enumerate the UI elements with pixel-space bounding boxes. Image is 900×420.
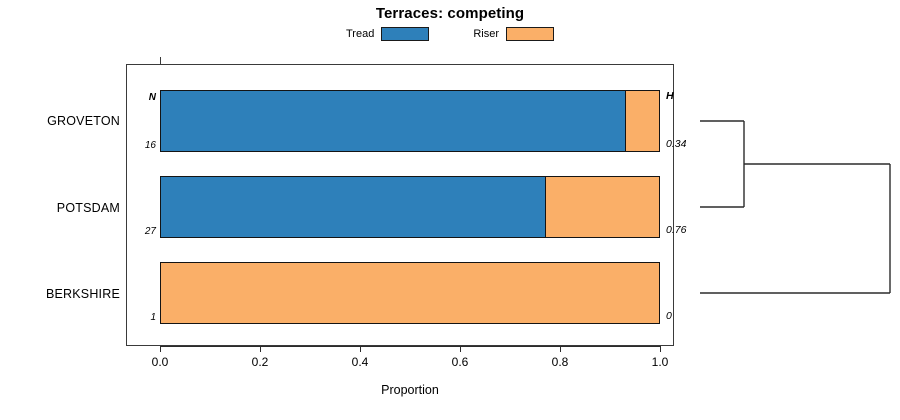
y-axis-label-potsdam: POTSDAM: [0, 201, 120, 215]
x-axis-title: Proportion: [160, 383, 660, 397]
chart-legend: Tread Riser: [0, 27, 900, 41]
legend-label-riser: Riser: [473, 28, 499, 40]
x-axis-line: [160, 346, 660, 347]
x-tick-label-2: 0.4: [335, 355, 385, 369]
legend-item-riser: Riser: [473, 27, 554, 41]
x-tick-label-1: 0.2: [235, 355, 285, 369]
x-tick-label-5: 1.0: [635, 355, 685, 369]
x-tick-mark-0: [160, 346, 161, 352]
dendrogram: [690, 60, 900, 350]
bar-segment-groveton-tread: [160, 90, 625, 152]
bar-row-berkshire: [160, 262, 660, 324]
y-axis-label-berkshire: BERKSHIRE: [0, 287, 120, 301]
bar-row-potsdam: [160, 176, 660, 238]
x-tick-label-4: 0.8: [535, 355, 585, 369]
y-axis-labels: GROVETON POTSDAM BERKSHIRE: [0, 0, 120, 420]
y-axis-label-groveton: GROVETON: [0, 114, 120, 128]
legend-swatch-tread: [381, 27, 429, 41]
n-column-header: N: [130, 92, 156, 103]
bar-segment-potsdam-tread: [160, 176, 545, 238]
legend-label-tread: Tread: [346, 28, 374, 40]
bar-row-groveton: [160, 90, 660, 152]
x-tick-mark-1: [260, 346, 261, 352]
panel-top-tick: [160, 57, 161, 64]
bar-segment-potsdam-riser: [545, 176, 660, 238]
x-tick-mark-4: [560, 346, 561, 352]
x-tick-label-0: 0.0: [135, 355, 185, 369]
legend-item-tread: Tread: [346, 27, 429, 41]
chart-figure: Terraces: competing Tread Riser GROVETON…: [0, 0, 900, 420]
bar-segment-groveton-riser: [625, 90, 660, 152]
legend-swatch-riser: [506, 27, 554, 41]
x-tick-mark-3: [460, 346, 461, 352]
x-tick-mark-5: [660, 346, 661, 352]
dendrogram-lines: [700, 121, 890, 293]
x-tick-mark-2: [360, 346, 361, 352]
n-value-berkshire: 1: [130, 312, 156, 323]
x-tick-label-3: 0.6: [435, 355, 485, 369]
n-value-groveton: 16: [130, 140, 156, 151]
bar-segment-berkshire-riser: [160, 262, 660, 324]
n-value-potsdam: 27: [130, 226, 156, 237]
chart-title: Terraces: competing: [0, 5, 900, 22]
